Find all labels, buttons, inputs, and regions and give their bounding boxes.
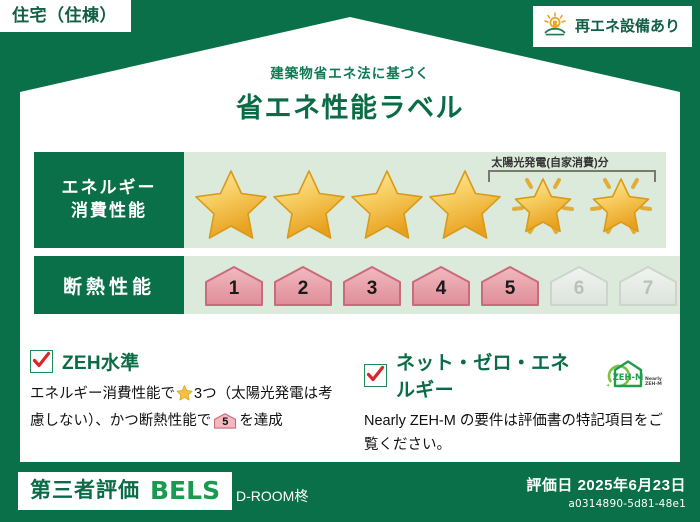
zeh-standard-head: ZEH水準 [30, 348, 340, 375]
check-icon [366, 365, 385, 384]
insulation-grade-1-value: 1 [202, 263, 266, 307]
star-5-solar [504, 164, 582, 242]
insulation-grade-1: 1 [202, 263, 266, 307]
net-zero-title: ネット・ゼロ・エネルギー [396, 348, 587, 402]
zeh-standard-section: ZEH水準 エネルギー消費性能で3つ（太陽光発電は考慮しない）、かつ断熱性能で5… [30, 348, 354, 458]
star-1 [192, 164, 270, 242]
renewable-equipment-badge: 再エネ設備あり [533, 6, 692, 47]
insulation-grade-7-value: 7 [616, 263, 680, 307]
energy-star-rating [184, 164, 660, 242]
third-party-eval-label: 第三者評価 [30, 480, 140, 501]
check-icon [32, 351, 51, 370]
title-main: 省エネ性能ラベル [0, 86, 700, 125]
net-zero-energy-section: ネット・ゼロ・エネルギー ZEH-M Nearly ZEH-M Nearly Z… [354, 348, 678, 458]
insulation-grade-6: 6 [547, 263, 611, 307]
insulation-grade-5-value: 5 [478, 263, 542, 307]
energy-label-line2: 消費性能 [71, 200, 147, 223]
insulation-grade-6-value: 6 [547, 263, 611, 307]
zeh-standard-body: エネルギー消費性能で3つ（太陽光発電は考慮しない）、かつ断熱性能で5を達成 [30, 383, 340, 434]
property-name: D-ROOM柊 [236, 486, 308, 506]
building-type-label: 住宅（住棟） [12, 6, 117, 25]
star-4 [426, 164, 504, 242]
insulation-grade-4-value: 4 [409, 263, 473, 307]
evaluation-id: a0314890-5d81-48e1 [526, 498, 686, 510]
energy-performance-value: 太陽光発電(自家消費)分 [184, 152, 666, 248]
evaluation-info: 評価日 2025年6月23日 a0314890-5d81-48e1 [526, 474, 686, 510]
energy-performance-row: エネルギー 消費性能 太陽光発電(自家消費)分 [34, 152, 666, 248]
inline-star-icon [176, 384, 193, 410]
insulation-performance-value: 1 2 3 [184, 256, 680, 314]
renewable-badge-label: 再エネ設備あり [575, 19, 680, 34]
energy-label-line1: エネルギー [62, 177, 157, 200]
zeh-m-logo: ZEH-M Nearly ZEH-M [602, 356, 664, 395]
zeh-standard-title: ZEH水準 [62, 348, 140, 375]
insulation-grade-4: 4 [409, 263, 473, 307]
svg-text:ZEH-M: ZEH-M [613, 372, 644, 382]
performance-rows: エネルギー 消費性能 太陽光発電(自家消費)分 [34, 152, 666, 322]
insulation-grade-3: 3 [340, 263, 404, 307]
net-zero-body: Nearly ZEH-M の要件は評価書の特記項目をご覧ください。 [364, 410, 664, 458]
evaluation-date: 評価日 2025年6月23日 [526, 474, 686, 495]
insulation-label-text: 断熱性能 [63, 272, 155, 299]
insulation-grade-3-value: 3 [340, 263, 404, 307]
bels-plate: 第三者評価 BELS [18, 472, 232, 510]
label-title-block: 建築物省エネ法に基づく 省エネ性能ラベル [0, 62, 700, 125]
net-zero-head: ネット・ゼロ・エネルギー ZEH-M Nearly ZEH-M [364, 348, 664, 402]
title-subtitle: 建築物省エネ法に基づく [0, 62, 700, 82]
energy-performance-label: エネルギー 消費性能 [34, 152, 184, 248]
bels-energy-label: 住宅（住棟） 再エネ設備あり 建築物省エネ法に基づく 省エネ性能ラベル [0, 0, 700, 522]
zeh-body-part3: を達成 [239, 413, 283, 429]
insulation-performance-row: 断熱性能 [34, 256, 666, 314]
star-3 [348, 164, 426, 242]
net-zero-checkbox[interactable] [364, 364, 387, 387]
insulation-grade-5: 5 [478, 263, 542, 307]
evaluation-date-label: 評価日 [526, 477, 573, 494]
insulation-grade-2: 2 [271, 263, 335, 307]
insulation-grade-7: 7 [616, 263, 680, 307]
building-type-tag: 住宅（住棟） [0, 0, 131, 32]
inline-house-icon: 5 [213, 412, 237, 429]
insulation-grade-2-value: 2 [271, 263, 335, 307]
insulation-grade-scale: 1 2 3 [184, 263, 680, 307]
certification-checks: ZEH水準 エネルギー消費性能で3つ（太陽光発電は考慮しない）、かつ断熱性能で5… [30, 348, 678, 458]
label-footer: 第三者評価 BELS D-ROOM柊 評価日 2025年6月23日 a03148… [0, 464, 700, 522]
svg-text:ZEH-M: ZEH-M [645, 381, 662, 387]
star-2 [270, 164, 348, 242]
star-6-solar [582, 164, 660, 242]
bels-logo-text: BELS [150, 478, 220, 503]
solar-sun-icon [542, 12, 568, 41]
zeh-standard-checkbox[interactable] [30, 350, 53, 373]
zeh-body-part1: エネルギー消費性能で [30, 386, 175, 402]
insulation-performance-label: 断熱性能 [34, 256, 184, 314]
evaluation-date-value: 2025年6月23日 [578, 477, 686, 494]
inline-house-value: 5 [213, 412, 237, 429]
